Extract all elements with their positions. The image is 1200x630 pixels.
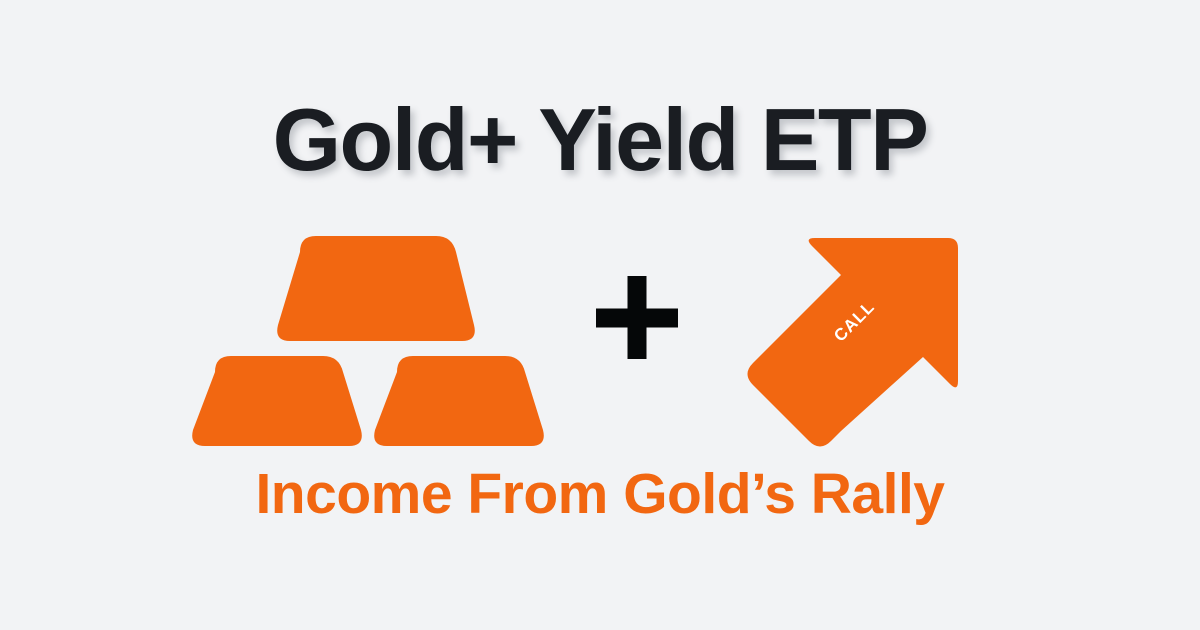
gold-bar-bottom-right xyxy=(374,356,544,446)
poster-canvas: Gold+ Yield ETP CALL xyxy=(0,0,1200,630)
arrow-svg: CALL xyxy=(736,218,976,468)
gold-bars-icon xyxy=(178,226,548,466)
plus-icon xyxy=(592,268,692,368)
gold-bar-top xyxy=(277,236,475,341)
graphic-row: CALL xyxy=(0,210,1200,460)
plus-svg xyxy=(592,268,692,368)
gold-bar-bottom-left xyxy=(192,356,362,446)
plus-horizontal-stroke xyxy=(596,309,678,328)
up-right-arrow-icon: CALL xyxy=(736,218,976,468)
page-subtitle: Income From Gold’s Rally xyxy=(0,466,1200,523)
gold-bars-svg xyxy=(178,226,548,466)
page-title: Gold+ Yield ETP xyxy=(0,96,1200,184)
arrow-shape xyxy=(748,238,959,447)
